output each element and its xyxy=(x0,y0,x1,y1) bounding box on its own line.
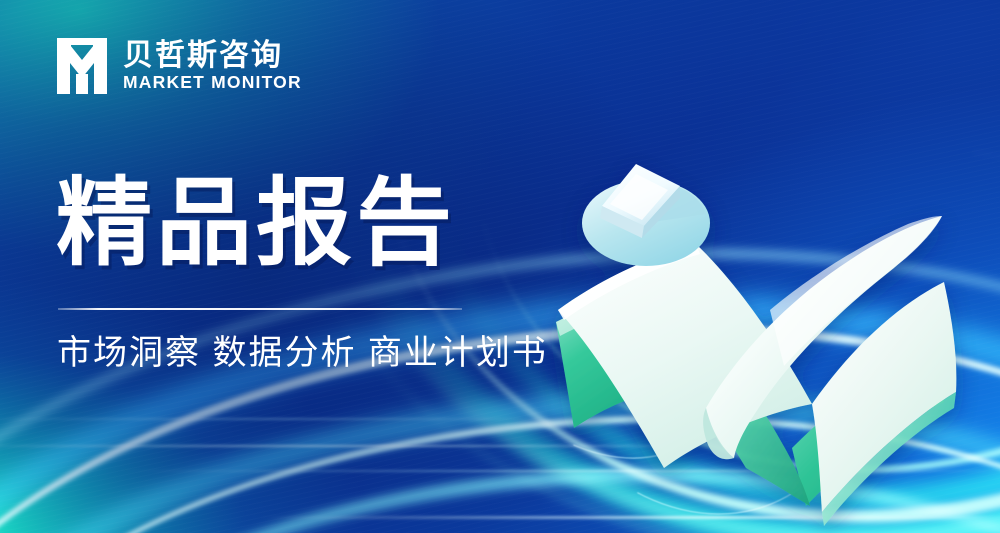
brand-logo-lockup: 贝哲斯咨询 MARKET MONITOR xyxy=(55,36,302,96)
logo-company-name-cn: 贝哲斯咨询 xyxy=(123,40,302,72)
page-title: 精品报告 xyxy=(56,176,456,272)
title-divider xyxy=(58,308,462,310)
page-subtitle: 市场洞察 数据分析 商业计划书 xyxy=(57,333,548,374)
logo-m-mark-icon xyxy=(55,36,109,96)
logo-company-name-en: MARKET MONITOR xyxy=(123,73,302,92)
open-book-illustration xyxy=(540,150,960,480)
promo-banner: 贝哲斯咨询 MARKET MONITOR 精品报告 市场洞察 数据分析 商业计划… xyxy=(0,0,1000,533)
